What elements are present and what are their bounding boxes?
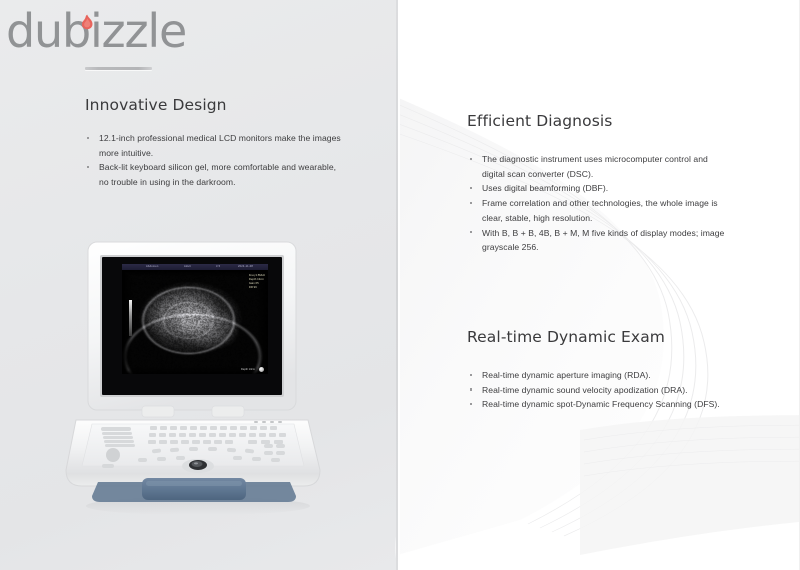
screen-label-date: 2024-11-08 bbox=[238, 265, 253, 268]
bullet-item: Real-time dynamic sound velocity apodiza… bbox=[468, 383, 730, 398]
bullet-item: 12.1-inch professional medical LCD monit… bbox=[85, 131, 345, 160]
screen-corner-indicator bbox=[259, 367, 264, 372]
screen-scan-parameters: Freq 3.5MHz Depth 13cm Gain 65 DR 96 bbox=[249, 273, 265, 289]
bullet-item: Frame correlation and other technologies… bbox=[468, 196, 730, 225]
bullet-list-realtime-dynamic-exam: Real-time dynamic aperture imaging (RDA)… bbox=[468, 368, 730, 412]
heading-efficient-diagnosis: Efficient Diagnosis bbox=[467, 112, 612, 130]
flame-icon bbox=[79, 14, 95, 36]
bullet-item: With B, B + B, 4B, B + M, M five kinds o… bbox=[468, 226, 730, 255]
left-panel: dubizzle Innovative Design 12.1-inch pro… bbox=[0, 0, 398, 570]
screen-label-preset: Abdomen bbox=[146, 265, 159, 268]
ultrasound-scan-image bbox=[122, 270, 268, 374]
grayscale-reference-bar bbox=[129, 300, 132, 336]
bullet-item: Uses digital beamforming (DBF). bbox=[468, 181, 730, 196]
heading-realtime-dynamic-exam: Real-time Dynamic Exam bbox=[467, 328, 665, 346]
bullet-item: Real-time dynamic aperture imaging (RDA)… bbox=[468, 368, 730, 383]
ribbon-decoration-right bbox=[400, 0, 800, 570]
bullet-list-efficient-diagnosis: The diagnostic instrument uses microcomp… bbox=[468, 152, 730, 255]
heading-innovative-design: Innovative Design bbox=[85, 96, 227, 114]
brand-wordmark: dubizzle bbox=[6, 8, 186, 54]
bullet-item: Real-time dynamic spot-Dynamic Frequency… bbox=[468, 397, 730, 412]
param-dynamic-range: DR 96 bbox=[249, 285, 265, 289]
screen-label-patient: Adult bbox=[184, 265, 191, 268]
dubizzle-watermark: dubizzle bbox=[6, 8, 186, 70]
trackball bbox=[182, 459, 214, 473]
bullet-list-innovative-design: 12.1-inch professional medical LCD monit… bbox=[85, 131, 345, 190]
screen-label-probe: 3.5 bbox=[216, 265, 220, 268]
logo-divider-rule bbox=[85, 67, 152, 70]
bullet-item: The diagnostic instrument uses microcomp… bbox=[468, 152, 730, 181]
ultrasound-screen-display: Abdomen Adult 3.5 2024-11-08 Freq 3.5MHz… bbox=[122, 264, 268, 374]
screen-top-bar: Abdomen Adult 3.5 2024-11-08 bbox=[122, 264, 268, 270]
slide-canvas: dubizzle Innovative Design 12.1-inch pro… bbox=[0, 0, 800, 570]
right-panel bbox=[400, 0, 800, 570]
bullet-item: Back-lit keyboard silicon gel, more comf… bbox=[85, 160, 345, 189]
screen-bottom-label: Depth 13cm bbox=[241, 368, 255, 371]
